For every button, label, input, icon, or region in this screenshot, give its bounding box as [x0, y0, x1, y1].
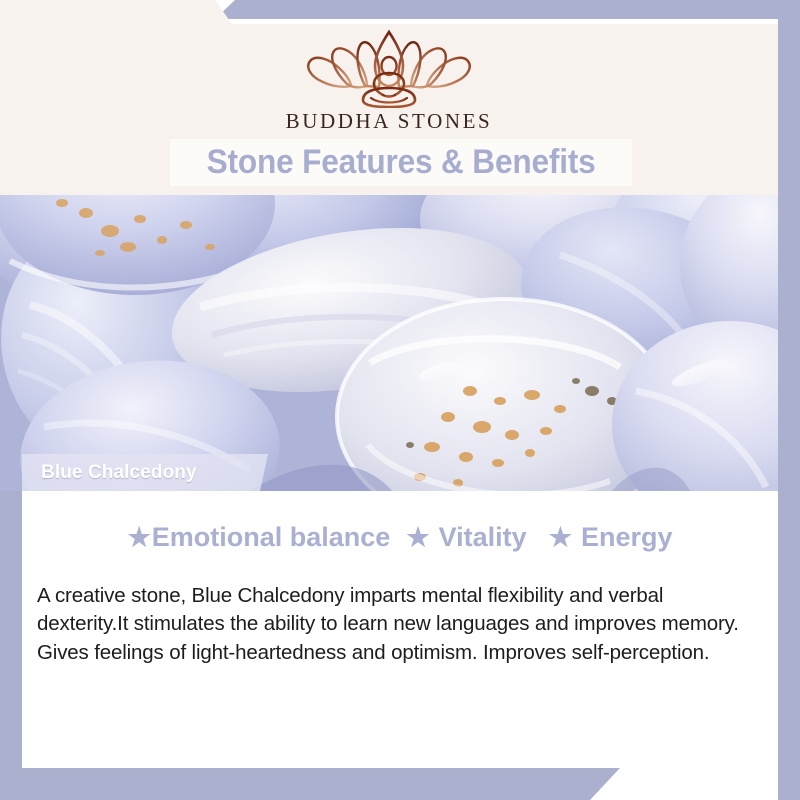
frame-border-top: [215, 0, 800, 19]
star-icon: ★: [549, 524, 572, 550]
stone-description: A creative stone, Blue Chalcedony impart…: [37, 582, 749, 668]
header-corner-notch: [0, 0, 232, 24]
stone-feature-poster: BUDDHA STONES Stone Features & Benefits: [0, 0, 800, 800]
lotus-meditation-figure-icon: [301, 26, 477, 108]
stone-photo: Blue Chalcedony: [0, 195, 778, 491]
star-icon: ★: [406, 524, 429, 550]
title-band: Stone Features & Benefits: [170, 139, 632, 186]
brand-logo: BUDDHA STONES: [0, 26, 778, 138]
stone-name-label: Blue Chalcedony: [41, 462, 197, 484]
frame-border-bottom: [0, 768, 620, 800]
brand-name: BUDDHA STONES: [286, 109, 493, 134]
keyword-vitality: ★ Vitality: [406, 522, 526, 553]
keyword-label: Emotional balance: [152, 522, 391, 553]
keyword-energy: ★ Energy: [549, 522, 673, 553]
page-title: Stone Features & Benefits: [207, 143, 596, 182]
keyword-label: Energy: [581, 522, 673, 553]
keyword-label: Vitality: [439, 522, 527, 553]
photo-caption-bar: Blue Chalcedony: [22, 454, 268, 491]
frame-border-right: [778, 0, 800, 800]
keyword-emotional-balance: ★ Emotional balance: [127, 522, 390, 553]
benefit-keywords: ★ Emotional balance ★ Vitality ★ Energy: [22, 517, 778, 557]
star-icon: ★: [127, 524, 150, 550]
